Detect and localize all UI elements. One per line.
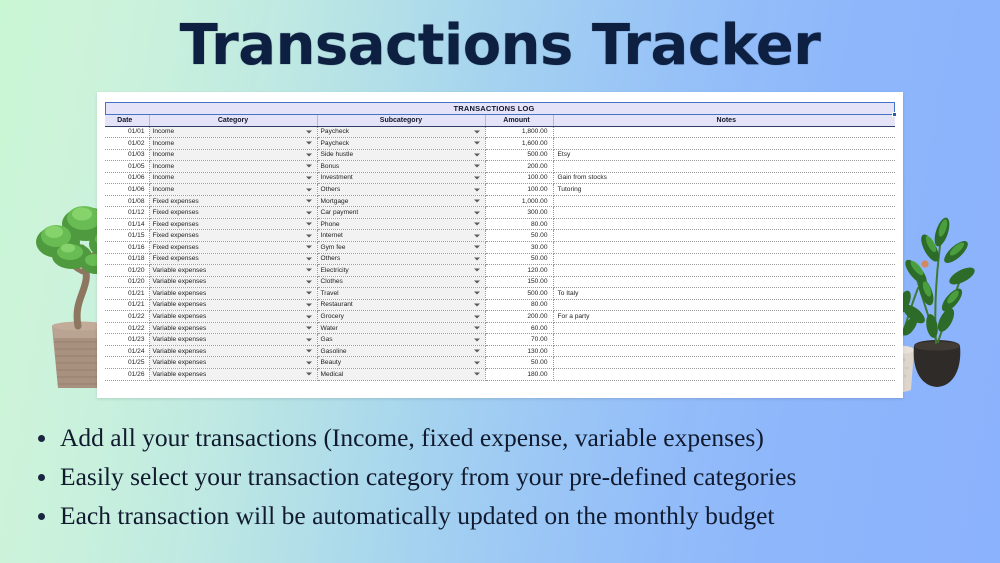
cell-subcategory-label: Medical xyxy=(321,371,344,378)
cell-date[interactable]: 01/18 xyxy=(105,253,149,265)
cell-notes[interactable] xyxy=(553,276,895,288)
cell-category-dropdown[interactable]: Variable expenses xyxy=(149,276,317,288)
cell-subcategory-label: Side hustle xyxy=(321,151,354,158)
cell-category-label: Variable expenses xyxy=(153,336,207,343)
cell-subcategory-dropdown[interactable]: Others xyxy=(317,253,485,265)
table-row: 01/20Variable expensesClothes150.00 xyxy=(105,276,895,288)
cell-amount[interactable]: 80.00 xyxy=(485,218,553,230)
table-row: 01/21Variable expensesRestaurant80.00 xyxy=(105,299,895,311)
cell-amount[interactable]: 1,000.00 xyxy=(485,195,553,207)
cell-category-label: Variable expenses xyxy=(153,290,207,297)
chevron-down-icon[interactable] xyxy=(474,153,480,156)
cell-notes[interactable]: Etsy xyxy=(553,149,895,161)
cell-date[interactable]: 01/24 xyxy=(105,345,149,357)
column-header-date[interactable]: Date xyxy=(105,115,149,126)
chevron-down-icon[interactable] xyxy=(474,165,480,168)
cell-category-dropdown[interactable]: Variable expenses xyxy=(149,368,317,380)
cell-subcategory-dropdown[interactable]: Paycheck xyxy=(317,138,485,150)
cell-subcategory-label: Beauty xyxy=(321,359,342,366)
cell-category-label: Variable expenses xyxy=(153,313,207,320)
cell-category-dropdown[interactable]: Variable expenses xyxy=(149,334,317,346)
chevron-down-icon[interactable] xyxy=(306,350,312,353)
chevron-down-icon[interactable] xyxy=(474,350,480,353)
cell-subcategory-dropdown[interactable]: Medical xyxy=(317,368,485,380)
cell-amount[interactable]: 1,600.00 xyxy=(485,138,553,150)
chevron-down-icon[interactable] xyxy=(306,223,312,226)
chevron-down-icon[interactable] xyxy=(306,142,312,145)
chevron-down-icon[interactable] xyxy=(306,188,312,191)
cell-subcategory-dropdown[interactable]: Side hustle xyxy=(317,149,485,161)
chevron-down-icon[interactable] xyxy=(306,269,312,272)
chevron-down-icon[interactable] xyxy=(306,234,312,237)
cell-date[interactable]: 01/05 xyxy=(105,161,149,173)
chevron-down-icon[interactable] xyxy=(306,280,312,283)
cell-subcategory-label: Clothes xyxy=(321,278,343,285)
table-row: 01/08Fixed expensesMortgage1,000.00 xyxy=(105,195,895,207)
cell-date[interactable]: 01/02 xyxy=(105,138,149,150)
cell-category-dropdown[interactable]: Income xyxy=(149,161,317,173)
chevron-down-icon[interactable] xyxy=(306,246,312,249)
cell-amount[interactable]: 50.00 xyxy=(485,253,553,265)
cell-notes[interactable] xyxy=(553,334,895,346)
chevron-down-icon[interactable] xyxy=(474,361,480,364)
cell-subcategory-label: Others xyxy=(321,255,341,262)
cell-category-dropdown[interactable]: Fixed expenses xyxy=(149,241,317,253)
chevron-down-icon[interactable] xyxy=(474,257,480,260)
cell-category-label: Fixed expenses xyxy=(153,255,199,262)
table-row: 01/06IncomeOthers100.00Tutoring xyxy=(105,184,895,196)
table-row: 01/12Fixed expensesCar payment300.00 xyxy=(105,207,895,219)
cell-notes[interactable] xyxy=(553,357,895,369)
column-header-amount[interactable]: Amount xyxy=(485,115,553,126)
cell-category-label: Variable expenses xyxy=(153,359,207,366)
cell-subcategory-label: Paycheck xyxy=(321,128,350,135)
cell-category-dropdown[interactable]: Variable expenses xyxy=(149,311,317,323)
chevron-down-icon[interactable] xyxy=(474,315,480,318)
chevron-down-icon[interactable] xyxy=(306,338,312,341)
column-header-category[interactable]: Category xyxy=(149,115,317,126)
cell-amount[interactable]: 500.00 xyxy=(485,149,553,161)
cell-category-label: Variable expenses xyxy=(153,278,207,285)
cell-subcategory-label: Gas xyxy=(321,336,333,343)
cell-category-dropdown[interactable]: Income xyxy=(149,149,317,161)
cell-notes[interactable]: Gain from stocks xyxy=(553,172,895,184)
cell-category-label: Fixed expenses xyxy=(153,232,199,239)
chevron-down-icon[interactable] xyxy=(474,292,480,295)
cell-date[interactable]: 01/06 xyxy=(105,172,149,184)
cell-subcategory-dropdown[interactable]: Restaurant xyxy=(317,299,485,311)
chevron-down-icon[interactable] xyxy=(474,188,480,191)
cell-amount[interactable]: 300.00 xyxy=(485,207,553,219)
cell-category-dropdown[interactable]: Variable expenses xyxy=(149,299,317,311)
cell-category-dropdown[interactable]: Income xyxy=(149,138,317,150)
cell-subcategory-dropdown[interactable]: Internet xyxy=(317,230,485,242)
cell-amount[interactable]: 100.00 xyxy=(485,184,553,196)
chevron-down-icon[interactable] xyxy=(474,246,480,249)
cell-notes[interactable]: Tutoring xyxy=(553,184,895,196)
cell-amount[interactable]: 150.00 xyxy=(485,276,553,288)
cell-category-dropdown[interactable]: Fixed expenses xyxy=(149,195,317,207)
cell-subcategory-label: Gasoline xyxy=(321,348,347,355)
cell-subcategory-dropdown[interactable]: Electricity xyxy=(317,265,485,277)
cell-category-label: Variable expenses xyxy=(153,348,207,355)
cell-date[interactable]: 01/16 xyxy=(105,241,149,253)
chevron-down-icon[interactable] xyxy=(474,269,480,272)
table-row: 01/20Variable expensesElectricity120.00 xyxy=(105,265,895,277)
transactions-log-title: TRANSACTIONS LOG xyxy=(453,104,534,113)
cell-amount[interactable]: 50.00 xyxy=(485,230,553,242)
cell-subcategory-dropdown[interactable]: Bonus xyxy=(317,161,485,173)
table-header-row: Date Category Subcategory Amount Notes xyxy=(105,115,895,126)
cell-subcategory-label: Investment xyxy=(321,174,353,181)
cell-notes[interactable] xyxy=(553,230,895,242)
chevron-down-icon[interactable] xyxy=(474,142,480,145)
table-row: 01/22Variable expensesGrocery200.00For a… xyxy=(105,311,895,323)
cell-notes[interactable] xyxy=(553,218,895,230)
chevron-down-icon[interactable] xyxy=(306,211,312,214)
chevron-down-icon[interactable] xyxy=(306,361,312,364)
cell-notes[interactable] xyxy=(553,207,895,219)
cell-date[interactable]: 01/21 xyxy=(105,299,149,311)
cell-subcategory-label: Mortgage xyxy=(321,198,349,205)
cell-date[interactable]: 01/20 xyxy=(105,265,149,277)
cell-category-dropdown[interactable]: Fixed expenses xyxy=(149,218,317,230)
table-row: 01/06IncomeInvestment100.00Gain from sto… xyxy=(105,172,895,184)
table-row: 01/02IncomePaycheck1,600.00 xyxy=(105,138,895,150)
cell-subcategory-dropdown[interactable]: Investment xyxy=(317,172,485,184)
cell-date[interactable]: 01/23 xyxy=(105,334,149,346)
chevron-down-icon[interactable] xyxy=(474,211,480,214)
column-header-subcategory[interactable]: Subcategory xyxy=(317,115,485,126)
cell-date[interactable]: 01/22 xyxy=(105,311,149,323)
cell-category-label: Income xyxy=(153,151,175,158)
cell-category-dropdown[interactable]: Variable expenses xyxy=(149,322,317,334)
spreadsheet-inner: TRANSACTIONS LOG Date Category Subcatego… xyxy=(105,102,895,390)
cell-subcategory-label: Bonus xyxy=(321,163,340,170)
page-title: Transactions Tracker xyxy=(0,4,1000,88)
chevron-down-icon[interactable] xyxy=(306,292,312,295)
cell-category-label: Variable expenses xyxy=(153,371,207,378)
cell-subcategory-dropdown[interactable]: Beauty xyxy=(317,357,485,369)
cell-subcategory-dropdown[interactable]: Gasoline xyxy=(317,345,485,357)
table-row: 01/25Variable expensesBeauty50.00 xyxy=(105,357,895,369)
cell-notes[interactable] xyxy=(553,253,895,265)
cell-subcategory-dropdown[interactable]: Gas xyxy=(317,334,485,346)
cell-category-label: Income xyxy=(153,128,175,135)
cell-date[interactable]: 01/25 xyxy=(105,357,149,369)
cell-category-dropdown[interactable]: Variable expenses xyxy=(149,265,317,277)
cell-category-dropdown[interactable]: Variable expenses xyxy=(149,357,317,369)
cell-subcategory-label: Travel xyxy=(321,290,339,297)
chevron-down-icon[interactable] xyxy=(306,257,312,260)
cell-date[interactable]: 01/06 xyxy=(105,184,149,196)
table-row: 01/23Variable expensesGas70.00 xyxy=(105,334,895,346)
cell-subcategory-dropdown[interactable]: Others xyxy=(317,184,485,196)
cell-subcategory-dropdown[interactable]: Grocery xyxy=(317,311,485,323)
cell-subcategory-dropdown[interactable]: Gym fee xyxy=(317,241,485,253)
cell-subcategory-label: Paycheck xyxy=(321,140,350,147)
cell-date[interactable]: 01/21 xyxy=(105,288,149,300)
chevron-down-icon[interactable] xyxy=(306,315,312,318)
cell-category-label: Fixed expenses xyxy=(153,221,199,228)
chevron-down-icon[interactable] xyxy=(474,200,480,203)
chevron-down-icon[interactable] xyxy=(306,130,312,133)
table-row: 01/16Fixed expensesGym fee30.00 xyxy=(105,241,895,253)
cell-amount[interactable]: 1,800.00 xyxy=(485,126,553,138)
feature-bullet-list: Add all your transactions (Income, fixed… xyxy=(30,418,970,535)
chevron-down-icon[interactable] xyxy=(474,234,480,237)
cell-category-label: Fixed expenses xyxy=(153,198,199,205)
cell-subcategory-dropdown[interactable]: Clothes xyxy=(317,276,485,288)
chevron-down-icon[interactable] xyxy=(474,303,480,306)
chevron-down-icon[interactable] xyxy=(306,176,312,179)
table-row: 01/21Variable expensesTravel500.00To Ita… xyxy=(105,288,895,300)
chevron-down-icon[interactable] xyxy=(474,373,480,376)
cell-notes[interactable] xyxy=(553,126,895,138)
cell-subcategory-label: Restaurant xyxy=(321,301,353,308)
cell-selection-handle[interactable] xyxy=(892,112,897,117)
chevron-down-icon[interactable] xyxy=(474,130,480,133)
cell-subcategory-label: Grocery xyxy=(321,313,344,320)
cell-notes[interactable] xyxy=(553,195,895,207)
chevron-down-icon[interactable] xyxy=(306,303,312,306)
cell-notes[interactable] xyxy=(553,241,895,253)
cell-category-label: Income xyxy=(153,186,175,193)
chevron-down-icon[interactable] xyxy=(306,200,312,203)
cell-subcategory-dropdown[interactable]: Phone xyxy=(317,218,485,230)
cell-amount[interactable]: 200.00 xyxy=(485,311,553,323)
cell-notes[interactable] xyxy=(553,265,895,277)
cell-category-dropdown[interactable]: Fixed expenses xyxy=(149,230,317,242)
table-row: 01/18Fixed expensesOthers50.00 xyxy=(105,253,895,265)
cell-notes[interactable]: To Italy xyxy=(553,288,895,300)
cell-subcategory-dropdown[interactable]: Car payment xyxy=(317,207,485,219)
spreadsheet-card: TRANSACTIONS LOG Date Category Subcatego… xyxy=(97,92,903,398)
cell-category-label: Income xyxy=(153,163,175,170)
cell-amount[interactable]: 80.00 xyxy=(485,299,553,311)
table-row: 01/01IncomePaycheck1,800.00 xyxy=(105,126,895,138)
cell-category-dropdown[interactable]: Fixed expenses xyxy=(149,253,317,265)
cell-amount[interactable]: 180.00 xyxy=(485,368,553,380)
cell-subcategory-dropdown[interactable]: Paycheck xyxy=(317,126,485,138)
chevron-down-icon[interactable] xyxy=(306,373,312,376)
feature-bullet-item: Add all your transactions (Income, fixed… xyxy=(30,418,970,457)
table-row: 01/03IncomeSide hustle500.00Etsy xyxy=(105,149,895,161)
cell-subcategory-dropdown[interactable]: Water xyxy=(317,322,485,334)
cell-date[interactable]: 01/20 xyxy=(105,276,149,288)
transactions-log-title-cell[interactable]: TRANSACTIONS LOG xyxy=(105,102,895,115)
cell-category-label: Variable expenses xyxy=(153,301,207,308)
table-row: 01/15Fixed expensesInternet50.00 xyxy=(105,230,895,242)
chevron-down-icon[interactable] xyxy=(474,338,480,341)
cell-category-dropdown[interactable]: Income xyxy=(149,172,317,184)
table-row: 01/14Fixed expensesPhone80.00 xyxy=(105,218,895,230)
cell-notes[interactable] xyxy=(553,345,895,357)
cell-notes[interactable] xyxy=(553,161,895,173)
cell-category-label: Fixed expenses xyxy=(153,244,199,251)
cell-amount[interactable]: 50.00 xyxy=(485,357,553,369)
cell-amount[interactable]: 200.00 xyxy=(485,161,553,173)
cell-notes[interactable] xyxy=(553,138,895,150)
cell-amount[interactable]: 60.00 xyxy=(485,322,553,334)
cell-date[interactable]: 01/01 xyxy=(105,126,149,138)
table-row: 01/24Variable expensesGasoline130.00 xyxy=(105,345,895,357)
cell-date[interactable]: 01/08 xyxy=(105,195,149,207)
cell-subcategory-dropdown[interactable]: Mortgage xyxy=(317,195,485,207)
table-header: Date Category Subcategory Amount Notes xyxy=(105,115,895,126)
cell-date[interactable]: 01/14 xyxy=(105,218,149,230)
table-row: 01/22Variable expensesWater60.00 xyxy=(105,322,895,334)
cell-amount[interactable]: 120.00 xyxy=(485,265,553,277)
cell-subcategory-label: Phone xyxy=(321,221,340,228)
cell-notes[interactable]: For a party xyxy=(553,311,895,323)
cell-notes[interactable] xyxy=(553,368,895,380)
cell-subcategory-label: Others xyxy=(321,186,341,193)
column-header-notes[interactable]: Notes xyxy=(553,115,895,126)
cell-amount[interactable]: 500.00 xyxy=(485,288,553,300)
cell-category-label: Income xyxy=(153,140,175,147)
cell-subcategory-dropdown[interactable]: Travel xyxy=(317,288,485,300)
table-row: 01/26Variable expensesMedical180.00 xyxy=(105,368,895,380)
cell-subcategory-label: Car payment xyxy=(321,209,359,216)
chevron-down-icon[interactable] xyxy=(474,327,480,330)
cell-category-label: Variable expenses xyxy=(153,325,207,332)
feature-bullet-item: Easily select your transaction category … xyxy=(30,457,970,496)
cell-amount[interactable]: 100.00 xyxy=(485,172,553,184)
feature-bullet-item: Each transaction will be automatically u… xyxy=(30,496,970,535)
cell-notes[interactable] xyxy=(553,322,895,334)
chevron-down-icon[interactable] xyxy=(306,165,312,168)
cell-date[interactable]: 01/26 xyxy=(105,368,149,380)
cell-date[interactable]: 01/22 xyxy=(105,322,149,334)
cell-category-dropdown[interactable]: Income xyxy=(149,184,317,196)
table-body: 01/01IncomePaycheck1,800.0001/02IncomePa… xyxy=(105,126,895,380)
cell-category-label: Income xyxy=(153,174,175,181)
cell-subcategory-label: Water xyxy=(321,325,338,332)
cell-notes[interactable] xyxy=(553,299,895,311)
cell-amount[interactable]: 130.00 xyxy=(485,345,553,357)
chevron-down-icon[interactable] xyxy=(474,223,480,226)
cell-amount[interactable]: 70.00 xyxy=(485,334,553,346)
cell-subcategory-label: Internet xyxy=(321,232,343,239)
chevron-down-icon[interactable] xyxy=(474,176,480,179)
cell-date[interactable]: 01/03 xyxy=(105,149,149,161)
cell-date[interactable]: 01/12 xyxy=(105,207,149,219)
chevron-down-icon[interactable] xyxy=(474,280,480,283)
cell-subcategory-label: Electricity xyxy=(321,267,349,274)
chevron-down-icon[interactable] xyxy=(306,153,312,156)
cell-date[interactable]: 01/15 xyxy=(105,230,149,242)
cell-category-label: Variable expenses xyxy=(153,267,207,274)
chevron-down-icon[interactable] xyxy=(306,327,312,330)
cell-subcategory-label: Gym fee xyxy=(321,244,346,251)
cell-amount[interactable]: 30.00 xyxy=(485,241,553,253)
table-row: 01/05IncomeBonus200.00 xyxy=(105,161,895,173)
cell-category-dropdown[interactable]: Variable expenses xyxy=(149,345,317,357)
cell-category-label: Fixed expenses xyxy=(153,209,199,216)
cell-category-dropdown[interactable]: Fixed expenses xyxy=(149,207,317,219)
cell-category-dropdown[interactable]: Income xyxy=(149,126,317,138)
transactions-table: Date Category Subcategory Amount Notes 0… xyxy=(105,115,895,381)
cell-category-dropdown[interactable]: Variable expenses xyxy=(149,288,317,300)
